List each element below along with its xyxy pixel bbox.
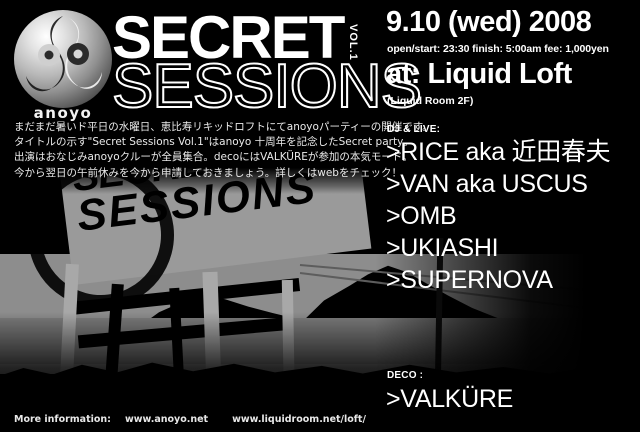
footer-url-liquidroom[interactable]: www.liquidroom.net/loft/ (232, 414, 366, 425)
lineup-item: >OMB (386, 200, 640, 232)
lineup-label: DJ & LIVE: (387, 124, 440, 135)
event-info-column: 9.10 (wed) 2008 open/start: 23:30 finish… (386, 0, 640, 432)
lineup-item: >SUPERNOVA (386, 264, 640, 296)
footer-label: More information: (14, 414, 111, 425)
anoyo-logo: anoyo (10, 10, 118, 122)
deco-artist: >VALKÜRE (386, 385, 513, 414)
event-venue: at: Liquid Loft (386, 58, 572, 91)
yin-yang-swirl-icon (14, 10, 112, 108)
event-date: 9.10 (wed) 2008 (386, 6, 591, 39)
title-sessions: SESSIONS (112, 56, 421, 118)
anoyo-orb-icon (14, 10, 112, 108)
description-block: まだまだ暑いド平日の水曜日、恵比寿リキッドロフトにてanoyoパーティーの開催で… (14, 120, 378, 181)
event-times: open/start: 23:30 finish: 5:00am fee: 1,… (387, 43, 609, 55)
volume-badge: VOL.1 (347, 24, 359, 61)
lineup-item: >RICE aka 近田春夫 (386, 136, 640, 168)
lineup-item: >UKIASHI (386, 232, 640, 264)
deco-label: DECO : (387, 370, 423, 381)
lineup-item: >VAN aka USCUS (386, 168, 640, 200)
event-venue-detail: (Liquid Room 2F) (387, 95, 473, 107)
lineup-list: >RICE aka 近田春夫 >VAN aka USCUS >OMB >UKIA… (386, 136, 640, 296)
description-line: 出演はおなじみanoyoクルーが全員集合。decoにはVALKÜREが参加の本気… (14, 150, 378, 165)
description-line: タイトルの示す"Secret Sessions Vol.1"はanoyo 十周年… (14, 135, 378, 150)
footer-url-anoyo[interactable]: www.anoyo.net (125, 414, 208, 425)
flyer-poster: SECRET SESSIONS anoyo (0, 0, 640, 432)
poster-title: SECRET SESSIONS VOL.1 (112, 6, 392, 124)
description-line: まだまだ暑いド平日の水曜日、恵比寿リキッドロフトにてanoyoパーティーの開催で… (14, 120, 378, 135)
footer-info: More information:www.anoyo.netwww.liquid… (14, 414, 380, 425)
description-line: 今から翌日の午前休みを今から申請しておきましょう。詳しくはwebをチェック！ (14, 166, 378, 181)
